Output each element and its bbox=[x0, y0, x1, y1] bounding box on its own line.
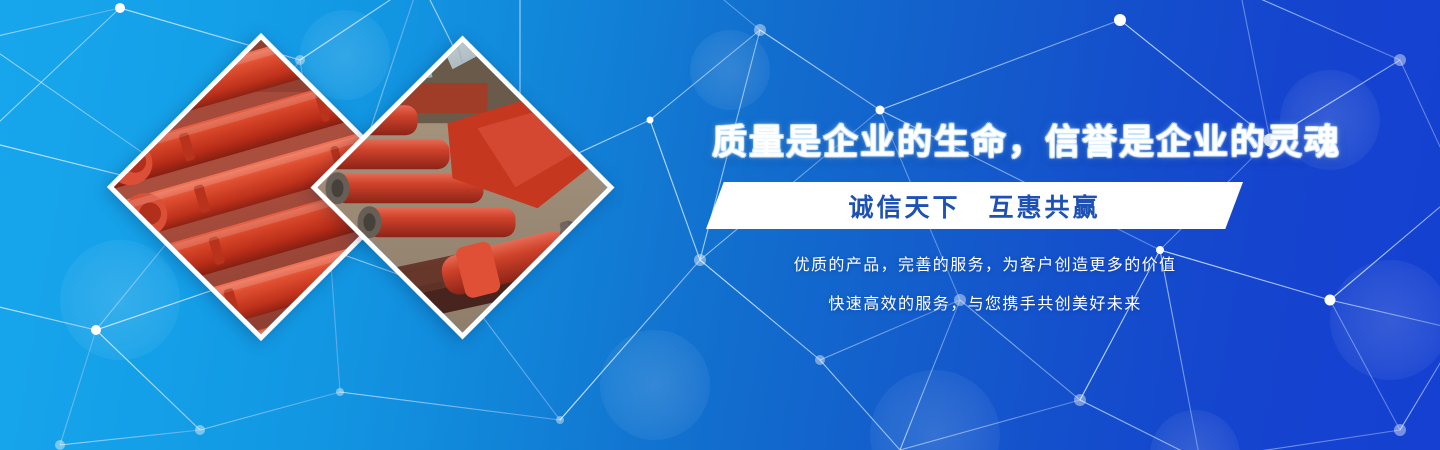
slogan-band: 诚信天下 互惠共赢 bbox=[706, 182, 1243, 229]
warehouse-cardan-shafts-on-pallets-image bbox=[310, 35, 614, 339]
banner-text-block: 质量是企业的生命，信誉是企业的灵魂 诚信天下 互惠共赢 优质的产品，完善的服务，… bbox=[700, 122, 1260, 314]
subtitle-line-1: 优质的产品，完善的服务，为客户创造更多的价值 bbox=[710, 251, 1260, 275]
page-title: 质量是企业的生命，信誉是企业的灵魂 bbox=[712, 122, 1260, 164]
product-photo-diamond-right bbox=[310, 35, 614, 339]
promotional-banner: 质量是企业的生命，信誉是企业的灵魂 诚信天下 互惠共赢 优质的产品，完善的服务，… bbox=[0, 0, 1440, 450]
subtitle-line-2: 快速高效的服务，与您携手共创美好未来 bbox=[710, 290, 1260, 314]
slogan-text: 诚信天下 互惠共赢 bbox=[706, 182, 1243, 229]
